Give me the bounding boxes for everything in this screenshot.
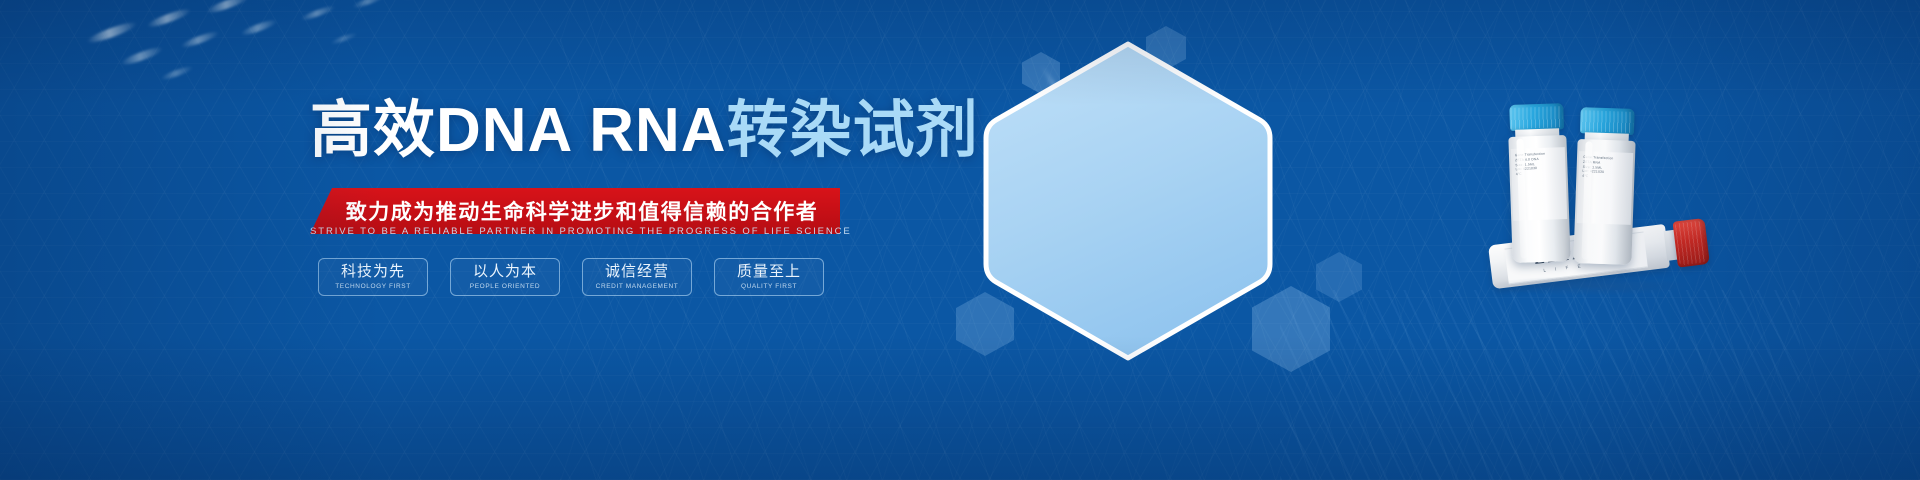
pill-label-cn: 诚信经营 [605, 264, 669, 281]
pill-label-cn: 以人为本 [473, 264, 537, 281]
banner-headline: 高效DNA RNA转染试剂 [310, 100, 979, 162]
pill-people-oriented[interactable]: 以人为本 PEOPLE ORIENTED [450, 258, 560, 296]
product-artwork: ZETA L I F E Gene TransfectionZETA 4.0 D… [960, 0, 1920, 480]
headline-accent: 转染试剂 [727, 96, 979, 165]
hexagon-product-backdrop [978, 36, 1278, 366]
hexagon-decoration-right-edge [1316, 252, 1362, 302]
product-vials: ZETA L I F E Gene TransfectionZETA 4.0 D… [1466, 86, 1702, 308]
product-shadow [1488, 276, 1688, 296]
vial-right: Gene TransfectionZETA RNASize: 1.5MLLot:… [1571, 107, 1638, 267]
pill-label-en: CREDIT MANAGEMENT [596, 283, 679, 290]
promo-banner: 高效DNA RNA转染试剂 致力成为推动生命科学进步和值得信赖的合作者 STRI… [0, 0, 1920, 480]
pill-quality-first[interactable]: 质量至上 QUALITY FIRST [714, 258, 824, 296]
banner-content: 高效DNA RNA转染试剂 致力成为推动生命科学进步和值得信赖的合作者 STRI… [0, 0, 960, 480]
pill-technology-first[interactable]: 科技为先 TECHNOLOGY FIRST [318, 258, 428, 296]
pill-label-cn: 质量至上 [737, 264, 801, 281]
pill-label-en: PEOPLE ORIENTED [470, 283, 540, 290]
vial-right-cap-ridges [1581, 110, 1634, 133]
vial-horizontal-cap-ridges [1675, 220, 1708, 265]
pill-label-cn: 科技为先 [341, 264, 405, 281]
value-pill-group: 科技为先 TECHNOLOGY FIRST 以人为本 PEOPLE ORIENT… [318, 258, 824, 296]
headline-primary: 高效DNA RNA [310, 96, 727, 165]
english-tagline: STRIVE TO BE A RELIABLE PARTNER IN PROMO… [310, 226, 840, 237]
vial-left-cap-ridges [1510, 106, 1563, 129]
hexagon-svg [978, 36, 1278, 366]
vial-left: Gene TransfectionZETA 4.0 DNASize: 1.5ML… [1505, 103, 1573, 265]
pill-label-en: TECHNOLOGY FIRST [335, 283, 411, 290]
pill-credit-management[interactable]: 诚信经营 CREDIT MANAGEMENT [582, 258, 692, 296]
pill-label-en: QUALITY FIRST [741, 283, 797, 290]
